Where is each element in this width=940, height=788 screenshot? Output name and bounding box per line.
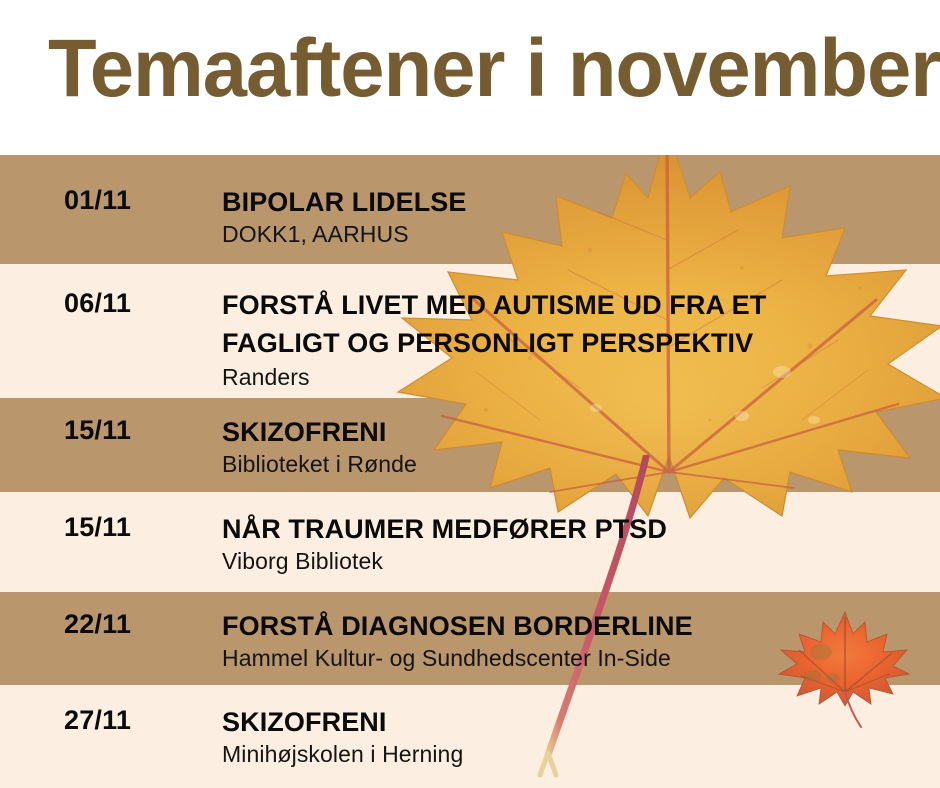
- poster-canvas: Temaaftener i november 01/11 BIPOLAR LID…: [0, 0, 940, 788]
- page-title: Temaaftener i november: [48, 28, 940, 110]
- event-band-2: [0, 264, 940, 398]
- event-band-4: [0, 492, 940, 592]
- poster-header: Temaaftener i november: [0, 0, 940, 155]
- event-band-6: [0, 685, 940, 788]
- event-band-3: [0, 398, 940, 492]
- event-band-5: [0, 592, 940, 685]
- event-band-1: [0, 155, 940, 264]
